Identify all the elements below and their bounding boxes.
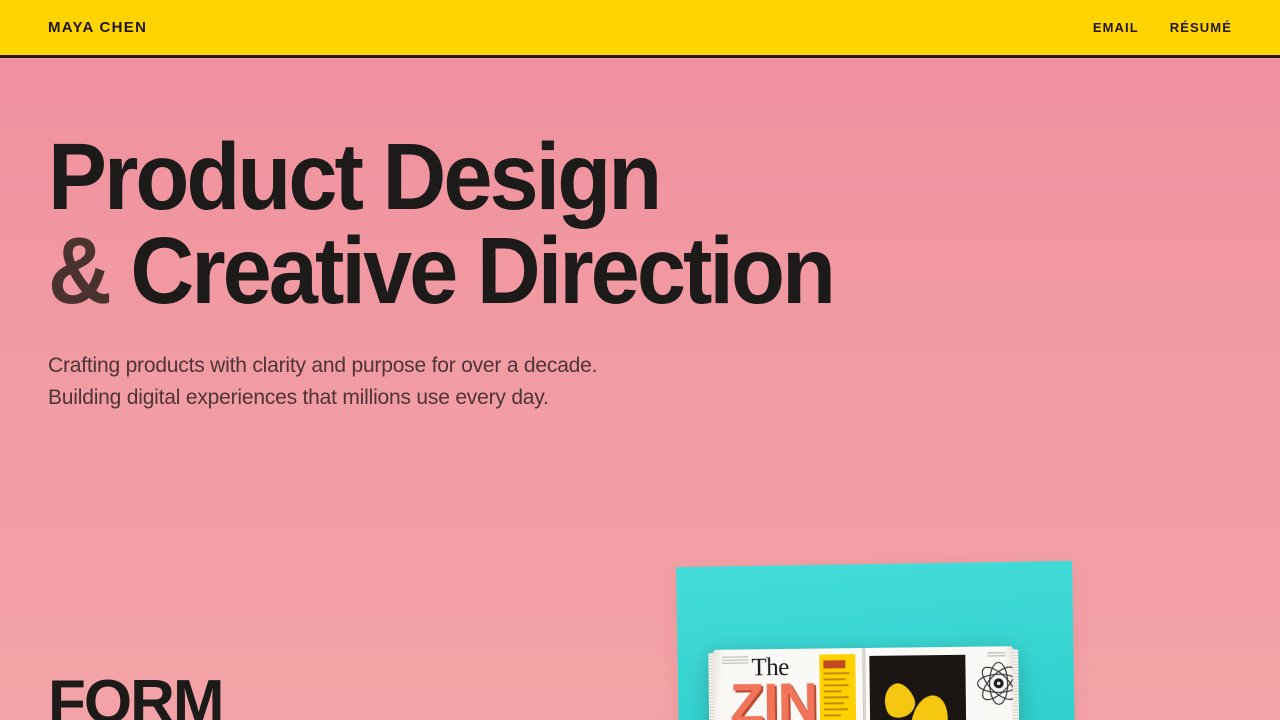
section-heading-form: FORM bbox=[48, 672, 223, 720]
sidebar-text-line bbox=[824, 708, 848, 710]
atom-diagram-icon bbox=[975, 660, 1014, 707]
sidebar-text-line bbox=[824, 696, 849, 698]
magazine-page-right bbox=[863, 646, 1015, 720]
micro-text-block bbox=[722, 656, 748, 663]
brand-wordmark[interactable]: MAYA CHEN bbox=[48, 19, 147, 36]
primary-nav: EMAIL RÉSUMÉ bbox=[1093, 20, 1232, 35]
page-number-block bbox=[987, 652, 1005, 657]
hero-section: Product Design & Creative Direction Craf… bbox=[0, 58, 1280, 414]
black-art-panel bbox=[869, 655, 966, 720]
headline-line-1: Product Design bbox=[48, 130, 1149, 224]
yellow-sidebar-column bbox=[819, 654, 856, 720]
sidebar-text-line bbox=[824, 678, 846, 680]
headline-line-2-text: Creative Direction bbox=[130, 218, 833, 324]
sidebar-title-bar bbox=[823, 660, 845, 668]
sidebar-text-line bbox=[824, 684, 849, 686]
sidebar-text-line bbox=[824, 702, 844, 704]
magazine-page-left: The ZIN bbox=[713, 648, 865, 720]
sidebar-text-line bbox=[824, 690, 842, 692]
nav-link-resume[interactable]: RÉSUMÉ bbox=[1170, 20, 1232, 35]
zine-title-zin: ZIN bbox=[730, 675, 818, 720]
page-title: Product Design & Creative Direction bbox=[48, 130, 1149, 318]
hero-subtitle-line-1: Crafting products with clarity and purpo… bbox=[48, 350, 1232, 382]
hero-subtitle: Crafting products with clarity and purpo… bbox=[48, 350, 1232, 414]
headline-ampersand: & bbox=[48, 218, 109, 324]
site-header: MAYA CHEN EMAIL RÉSUMÉ bbox=[0, 0, 1280, 58]
sidebar-text-line bbox=[824, 714, 841, 716]
open-magazine: The ZIN bbox=[713, 646, 1015, 720]
hero-subtitle-line-2: Building digital experiences that millio… bbox=[48, 382, 1232, 414]
sidebar-text-line bbox=[824, 672, 850, 674]
magazine-photo: The ZIN bbox=[660, 548, 1100, 720]
nav-link-email[interactable]: EMAIL bbox=[1093, 20, 1139, 35]
headline-line-2: & Creative Direction bbox=[48, 224, 1149, 318]
